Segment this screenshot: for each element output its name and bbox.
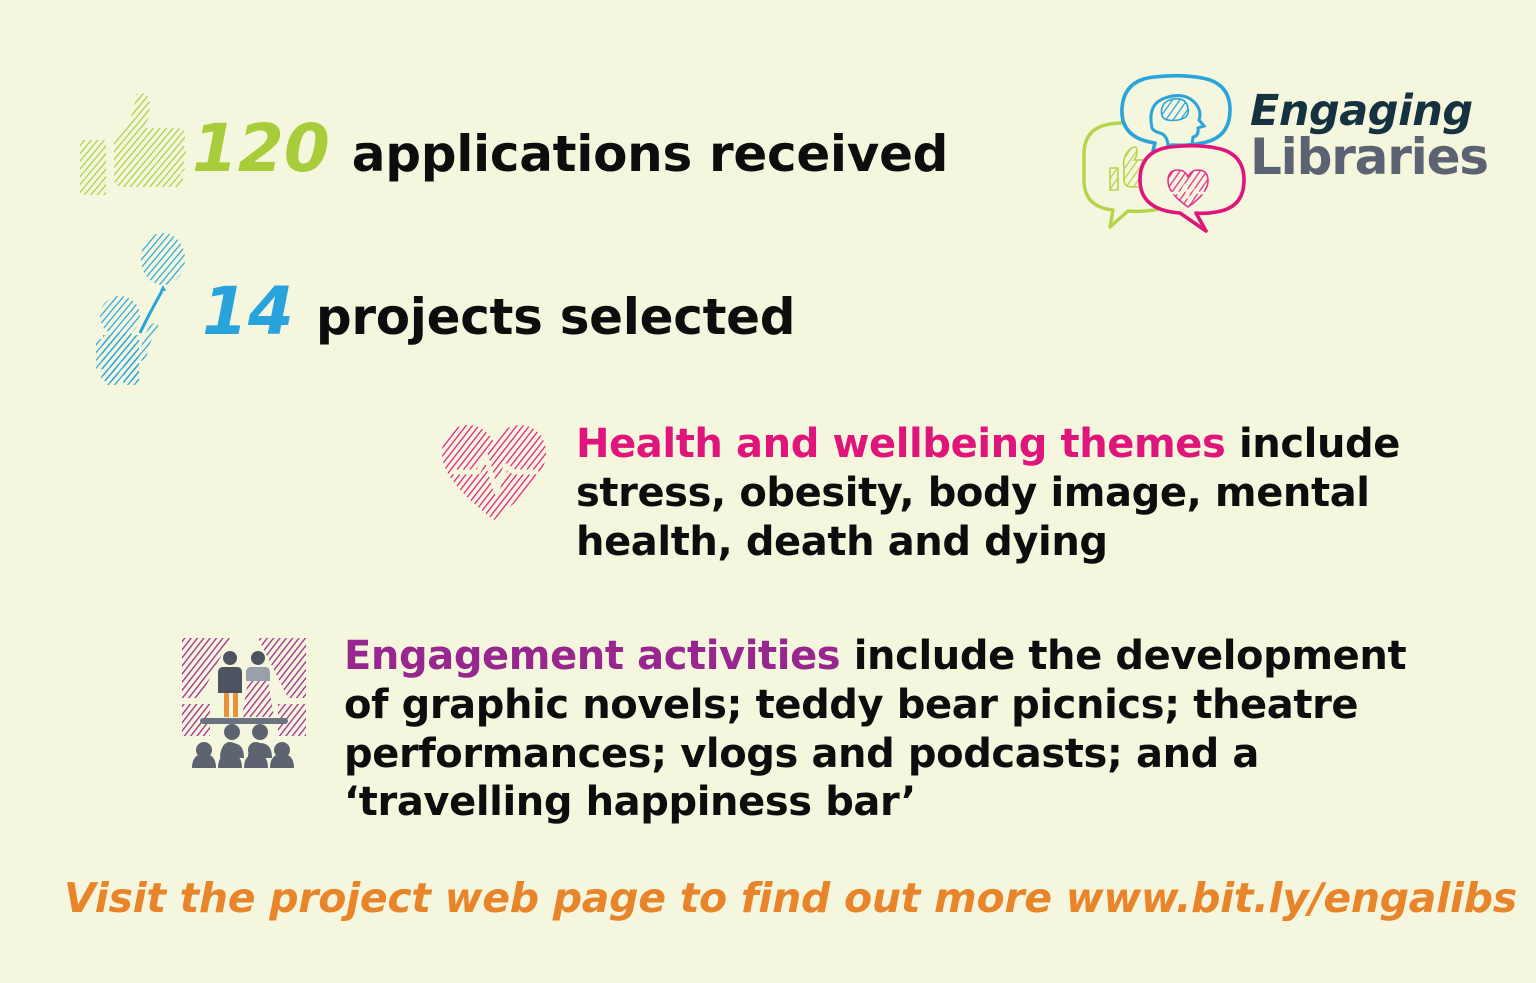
- theatre-stage-icon: [176, 632, 312, 772]
- stat-projects-label: projects selected: [316, 292, 795, 342]
- engagement-activities-lead: Engagement activities: [344, 633, 840, 679]
- stat-projects-text: 14 projects selected: [202, 279, 795, 345]
- thumbs-up-icon: [72, 92, 192, 206]
- logo-bubbles-mark: [1074, 72, 1246, 238]
- stat-applications-label: applications received: [352, 129, 948, 179]
- health-themes-block: Health and wellbeing themes include stre…: [438, 420, 1438, 566]
- stat-applications-text: 120 applications received: [192, 116, 948, 182]
- stat-applications-number: 120: [192, 116, 330, 182]
- stat-projects-number: 14: [202, 279, 294, 345]
- engagement-activities-text: Engagement activities include the develo…: [344, 632, 1456, 827]
- logo-wordmark: Engaging Libraries: [1250, 90, 1450, 220]
- infographic-canvas: Engaging Libraries 120 applications rece…: [0, 0, 1536, 983]
- logo-line-libraries: Libraries: [1250, 131, 1450, 184]
- child-with-balloon-icon: [92, 232, 202, 391]
- stat-projects-selected: 14 projects selected: [92, 232, 795, 391]
- health-themes-text: Health and wellbeing themes include stre…: [576, 420, 1436, 566]
- engagement-activities-block: Engagement activities include the develo…: [176, 632, 1456, 827]
- health-themes-lead: Health and wellbeing themes: [576, 421, 1225, 467]
- stat-applications-received: 120 applications received: [72, 92, 948, 206]
- footer-call-to-action[interactable]: Visit the project web page to find out m…: [64, 874, 1517, 922]
- heart-pulse-icon: [438, 420, 550, 530]
- engaging-libraries-logo: Engaging Libraries: [1074, 72, 1446, 238]
- speech-bubble-heart: [1140, 146, 1244, 231]
- logo-line-engaging: Engaging: [1250, 90, 1450, 133]
